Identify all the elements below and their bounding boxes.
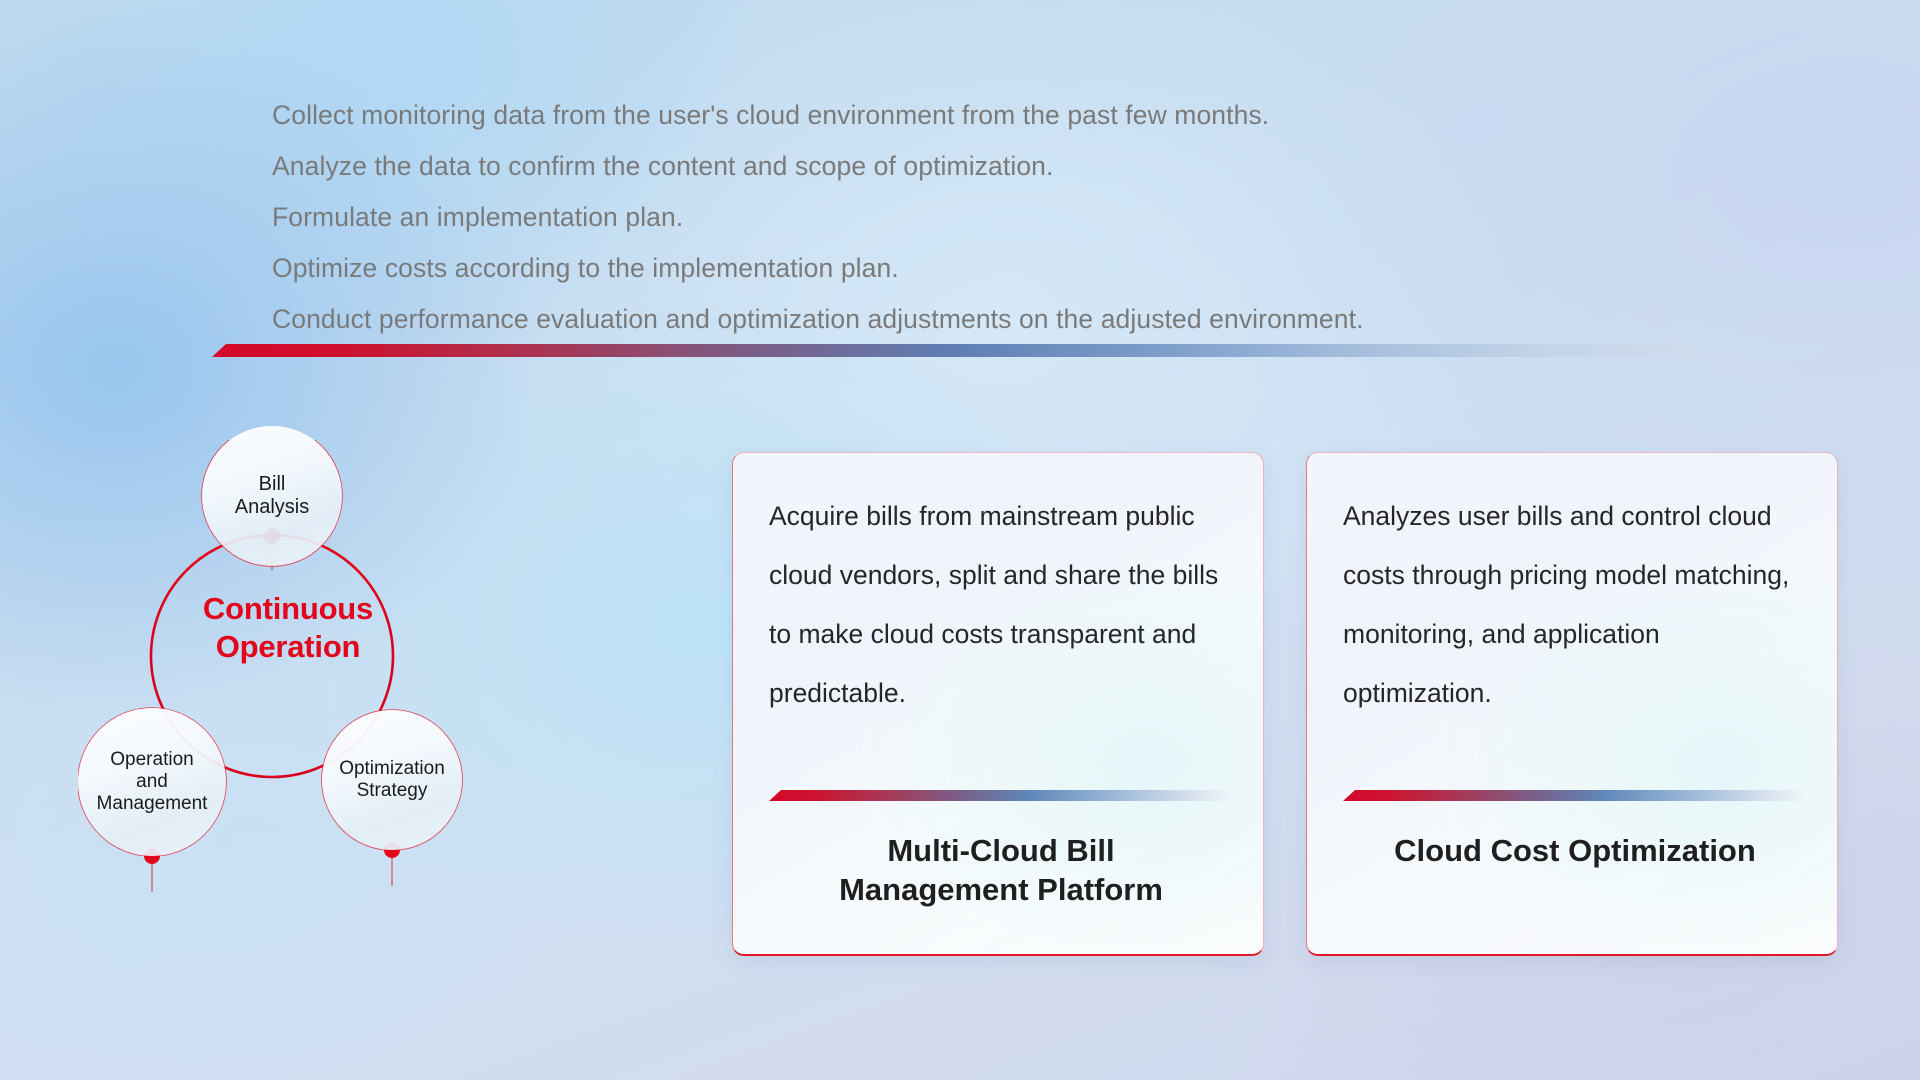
diagram-node-optimization-strategy-label: Optimization Strategy <box>339 758 445 802</box>
card-cloud-cost-optimization[interactable]: Analyzes user bills and control cloud co… <box>1306 452 1838 956</box>
continuous-operation-diagram: Bill Analysis Operation and Management O… <box>78 440 578 940</box>
intro-text-block: Collect monitoring data from the user's … <box>272 90 1612 345</box>
section-divider-bar <box>212 344 1698 357</box>
diagram-center-label: Continuous Operation <box>148 590 428 666</box>
intro-line-4: Optimize costs according to the implemen… <box>272 243 1612 294</box>
intro-line-5: Conduct performance evaluation and optim… <box>272 294 1612 345</box>
diagram-node-bill-analysis-label: Bill Analysis <box>235 473 309 520</box>
card-2-body-text: Analyzes user bills and control cloud co… <box>1343 487 1807 723</box>
section-divider <box>212 344 1698 357</box>
card-2-title: Cloud Cost Optimization <box>1331 831 1819 870</box>
card-1-divider <box>769 790 1229 801</box>
diagram-node-operation-management-label: Operation and Management <box>97 749 208 816</box>
intro-line-1: Collect monitoring data from the user's … <box>272 90 1612 141</box>
card-multi-cloud-bill-management-platform[interactable]: Acquire bills from mainstream public clo… <box>732 452 1264 956</box>
diagram-node-bill-analysis[interactable]: Bill Analysis <box>202 426 342 566</box>
diagram-node-operation-management[interactable]: Operation and Management <box>78 708 226 856</box>
card-1-body-text: Acquire bills from mainstream public clo… <box>769 487 1233 723</box>
intro-line-2: Analyze the data to confirm the content … <box>272 141 1612 192</box>
diagram-node-optimization-strategy[interactable]: Optimization Strategy <box>322 710 462 850</box>
intro-line-3: Formulate an implementation plan. <box>272 192 1612 243</box>
card-2-divider <box>1343 790 1803 801</box>
card-1-title: Multi-Cloud Bill Management Platform <box>757 831 1245 909</box>
